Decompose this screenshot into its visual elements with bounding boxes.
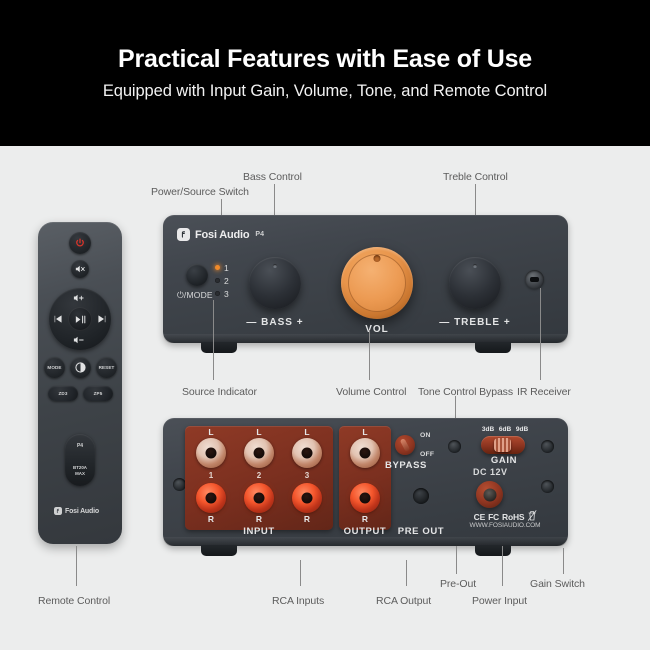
gain-step-label: 9dB — [516, 426, 528, 433]
switch-lever-icon — [494, 438, 511, 452]
source-led-2: 2 — [215, 274, 229, 287]
callout-power-input: Power Input — [472, 595, 527, 607]
rca-group-number: 2 — [257, 471, 261, 480]
led-indicator-icon — [215, 265, 220, 270]
remote-bt20a-max-label: BT20A MAX — [65, 465, 95, 476]
chassis-foot — [201, 342, 237, 353]
dc-voltage-label: DC 12V — [473, 467, 508, 477]
remote-reset-button[interactable]: RESET — [96, 357, 117, 378]
chassis-screw — [448, 440, 461, 453]
led-indicator-icon — [215, 291, 220, 296]
leader-source-indicator — [213, 300, 214, 380]
volume-down-icon[interactable] — [73, 336, 86, 346]
callout-rca-output: RCA Output — [376, 595, 431, 607]
input-section-label: INPUT — [243, 526, 275, 537]
leader-pre-out — [456, 546, 457, 574]
rca-group-number: 1 — [209, 471, 213, 480]
callout-rca-inputs: RCA Inputs — [272, 595, 324, 607]
play-pause-icon — [75, 315, 86, 324]
rca-input-jack-r2[interactable] — [244, 483, 274, 513]
callout-treble-control: Treble Control — [443, 171, 508, 183]
rca-channel-label: L — [208, 427, 213, 437]
rca-jack-hole — [360, 448, 371, 459]
rca-input-jack-r3[interactable] — [292, 483, 322, 513]
remote-tone-button[interactable] — [70, 357, 91, 378]
ir-receiver-icon — [525, 270, 544, 289]
source-led-1: 1 — [215, 261, 229, 274]
bass-knob-label: — BASS + — [246, 317, 303, 328]
rca-jack-hole — [206, 448, 217, 459]
rca-input-jack-l3[interactable] — [292, 438, 322, 468]
page-subtitle: Equipped with Input Gain, Volume, Tone, … — [103, 82, 547, 100]
rca-channel-label: R — [256, 514, 262, 524]
remote-brand-logo: Fosi Audio — [54, 507, 99, 515]
front-brand-logo: Fosi Audio P4 — [177, 228, 264, 241]
leader-rca-inputs — [300, 560, 301, 586]
source-led-number: 1 — [224, 263, 229, 273]
front-brand-name: Fosi Audio — [195, 229, 249, 241]
remote-brand-name: Fosi Audio — [65, 508, 99, 515]
power-input-jack[interactable] — [476, 481, 503, 508]
front-model-name: P4 — [255, 231, 264, 238]
rca-channel-label: R — [208, 514, 214, 524]
remote-mute-button[interactable] — [71, 260, 89, 278]
amplifier-rear-panel: L L L 1 2 3 R R R INPUT L R OUTPUT ON OF… — [163, 418, 568, 546]
infographic-root: Practical Features with Ease of Use Equi… — [0, 0, 650, 650]
volume-knob[interactable] — [341, 247, 413, 319]
rca-jack-hole — [206, 493, 217, 504]
bypass-off-label: OFF — [420, 451, 434, 458]
chassis-foot — [475, 342, 511, 353]
knob-indicator-dot — [473, 264, 477, 268]
remote-reset-label: RESET — [99, 365, 115, 370]
remote-bt20a-line1: BT20A — [73, 465, 87, 470]
led-indicator-icon — [215, 278, 220, 283]
source-led-number: 3 — [224, 289, 229, 299]
remote-dpad[interactable] — [49, 288, 111, 350]
fcc-mark: FC — [488, 512, 499, 522]
treble-knob-label: — TREBLE + — [439, 317, 510, 328]
source-led-number: 2 — [224, 276, 229, 286]
next-track-icon[interactable] — [97, 315, 106, 325]
rca-jack-hole — [254, 448, 265, 459]
remote-zp5-button[interactable]: ZP5 — [83, 386, 113, 401]
ce-mark: CE — [474, 512, 485, 522]
gain-slide-switch[interactable] — [481, 436, 525, 454]
bypass-on-label: ON — [420, 432, 431, 439]
callout-volume-control: Volume Control — [336, 386, 406, 398]
bypass-toggle-switch[interactable] — [395, 435, 415, 455]
website-label: WWW.FOSIAUDIO.COM — [470, 522, 541, 529]
source-led-3: 3 — [215, 287, 229, 300]
leader-rca-output — [406, 560, 407, 586]
callout-source-indicator: Source Indicator — [182, 386, 257, 398]
power-button-label: ⏻/MODE — [177, 290, 213, 301]
gain-step-label: 6dB — [499, 426, 511, 433]
remote-zd3-button[interactable]: ZD3 — [48, 386, 78, 401]
rca-jack-hole — [302, 493, 313, 504]
remote-control-device: MODE RESET ZD3 ZP5 P4 BT20A MAX Fosi Aud… — [38, 222, 122, 544]
callout-bass-control: Bass Control — [243, 171, 302, 183]
mute-icon — [75, 264, 86, 274]
rca-input-jack-l1[interactable] — [196, 438, 226, 468]
rca-jack-hole — [254, 493, 265, 504]
callout-tone-control-bypass: Tone Control Bypass — [418, 386, 513, 398]
remote-mode-label: MODE — [47, 365, 61, 370]
rca-input-jack-r1[interactable] — [196, 483, 226, 513]
rca-channel-label: L — [256, 427, 261, 437]
fosi-logo-icon — [54, 507, 62, 515]
volume-knob-face — [348, 254, 406, 312]
rca-channel-label: R — [362, 514, 368, 524]
power-source-button[interactable] — [186, 264, 208, 286]
remote-power-button[interactable] — [69, 232, 91, 254]
gain-step-label: 3dB — [482, 426, 494, 433]
output-section-label: OUTPUT — [344, 526, 387, 537]
leader-remote-control — [76, 546, 77, 586]
leader-gain-switch — [563, 548, 564, 574]
remote-mode-button[interactable]: MODE — [44, 357, 65, 378]
fosi-logo-icon — [177, 228, 190, 241]
remote-zd3-label: ZD3 — [59, 391, 68, 396]
remote-model-pill-button[interactable]: P4 BT20A MAX — [65, 434, 95, 486]
remote-p4-label: P4 — [65, 443, 95, 449]
callout-pre-out: Pre-Out — [440, 578, 476, 590]
volume-up-icon[interactable] — [73, 294, 86, 304]
chassis-foot — [201, 545, 237, 556]
rca-jack-hole — [360, 493, 371, 504]
rca-jack-hole — [302, 448, 313, 459]
rca-channel-label: R — [304, 514, 310, 524]
remote-bt20a-line2: MAX — [75, 471, 85, 476]
leader-power-input — [502, 546, 503, 586]
rca-channel-label: L — [362, 427, 367, 437]
pre-out-label: PRE OUT — [398, 526, 444, 537]
previous-track-icon[interactable] — [54, 315, 63, 325]
bass-knob[interactable] — [249, 257, 301, 309]
callout-remote-control: Remote Control — [38, 595, 110, 607]
callout-power-source-switch: Power/Source Switch — [151, 186, 249, 198]
callout-ir-receiver: IR Receiver — [517, 386, 571, 398]
page-title: Practical Features with Ease of Use — [118, 46, 532, 74]
pre-out-jack[interactable] — [413, 488, 429, 504]
rca-channel-label: L — [304, 427, 309, 437]
callout-gain-switch: Gain Switch — [530, 578, 585, 590]
knob-indicator-dot — [374, 255, 381, 262]
rca-input-jack-l2[interactable] — [244, 438, 274, 468]
gain-label: GAIN — [491, 455, 517, 466]
leader-ir-receiver — [540, 288, 541, 380]
header-banner: Practical Features with Ease of Use Equi… — [0, 0, 650, 146]
chassis-foot — [475, 545, 511, 556]
knob-indicator-dot — [273, 264, 277, 268]
bypass-label: BYPASS — [385, 460, 427, 471]
remote-play-pause-button[interactable] — [68, 307, 92, 331]
rohs-mark: RoHS — [502, 512, 524, 522]
rca-group-number: 3 — [305, 471, 309, 480]
chassis-screw — [541, 480, 554, 493]
rca-output-jack-l[interactable] — [350, 438, 380, 468]
contrast-icon — [75, 362, 86, 373]
treble-knob[interactable] — [449, 257, 501, 309]
chassis-screw — [541, 440, 554, 453]
source-indicator-group: 1 2 3 — [215, 261, 229, 300]
leader-volume-control — [369, 330, 370, 380]
amplifier-front-panel: Fosi Audio P4 ⏻/MODE 1 2 3 — BASS + — [163, 215, 568, 343]
rca-output-jack-r[interactable] — [350, 483, 380, 513]
remote-zp5-label: ZP5 — [94, 391, 103, 396]
dc-jack-core — [483, 488, 496, 501]
power-icon — [75, 238, 85, 248]
switch-lever-icon — [400, 438, 411, 452]
